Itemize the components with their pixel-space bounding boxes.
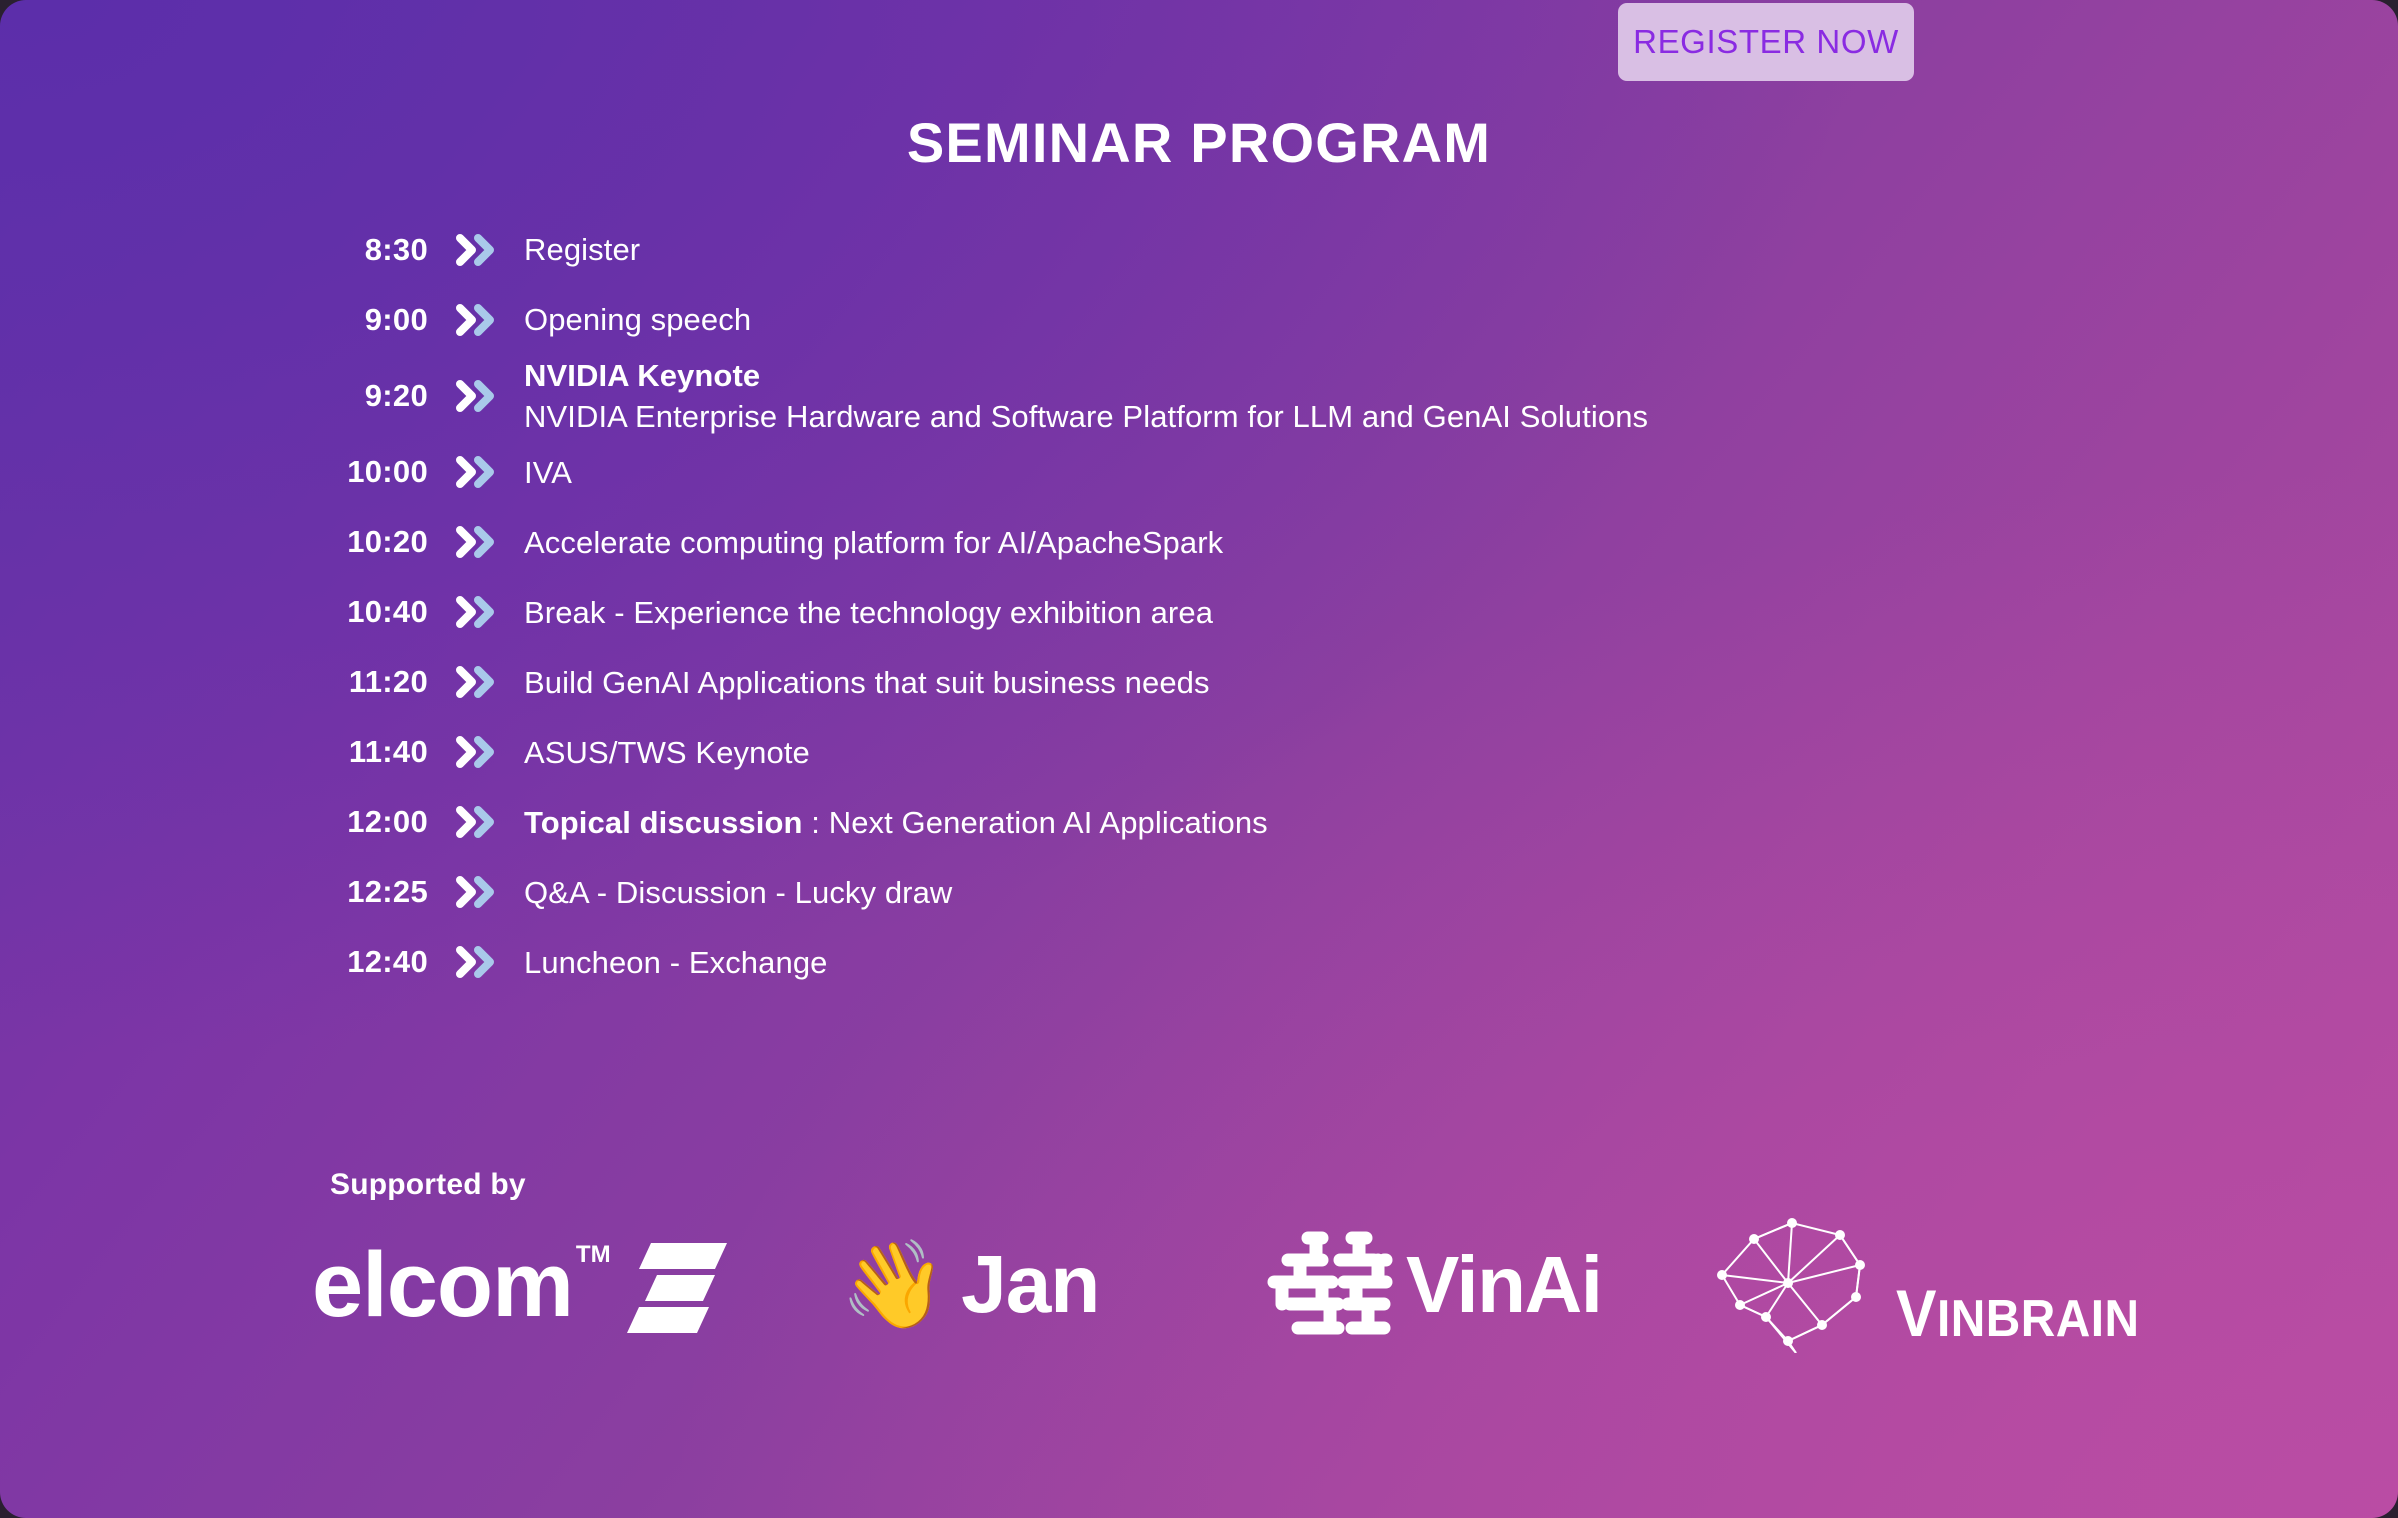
vinbrain-initial: V [1896,1276,1937,1350]
vinbrain-wordmark: VINBRAIN [1896,1275,2140,1351]
program-row-time: 9:00 [300,302,428,338]
sponsor-logo-vinai: VinAi [1260,1215,1602,1355]
program-row: 8:30Register [300,215,2000,285]
program-row-label: ASUS/TWS Keynote [524,735,810,770]
sponsor-logo-elcom: elcom TM [312,1215,727,1355]
supported-by-label: Supported by [330,1168,526,1202]
double-chevron-right-icon [428,872,524,912]
program-row-label: Q&A - Discussion - Lucky draw [524,875,952,910]
program-row-text: Q&A - Discussion - Lucky draw [524,872,952,913]
register-now-button[interactable]: REGISTER NOW [1618,3,1914,81]
register-now-label: REGISTER NOW [1633,23,1899,61]
double-chevron-right-icon [428,802,524,842]
sponsor-logo-vinbrain: VINBRAIN [1710,1215,2161,1355]
vinbrain-brain-network-icon [1710,1213,1910,1358]
sponsor-logo-strip: elcom TM 👋 Jan [300,1215,2160,1355]
program-row: 10:20Accelerate computing platform for A… [300,507,2000,577]
program-row-text: Break - Experience the technology exhibi… [524,592,1213,633]
program-row-label: : Next Generation AI Applications [803,805,1268,840]
double-chevron-right-icon [428,452,524,492]
program-row-time: 11:20 [300,664,428,700]
vinbrain-rest: INBRAIN [1937,1290,2140,1348]
vinai-wordmark: VinAi [1406,1239,1602,1331]
program-row-label: Accelerate computing platform for AI/Apa… [524,525,1223,560]
program-row: 12:40Luncheon - Exchange [300,927,2000,997]
double-chevron-right-icon [428,662,524,702]
program-row-label: Build GenAI Applications that suit busin… [524,665,1210,700]
program-row-text: Register [524,229,640,270]
program-row-label: Opening speech [524,302,751,337]
program-row-time: 8:30 [300,232,428,268]
page-title: SEMINAR PROGRAM [0,110,2398,175]
jan-wordmark: Jan [961,1238,1099,1332]
double-chevron-right-icon [428,300,524,340]
program-row: 10:40Break - Experience the technology e… [300,577,2000,647]
program-row: 10:00IVA [300,437,2000,507]
program-row: 11:20Build GenAI Applications that suit … [300,647,2000,717]
double-chevron-right-icon [428,732,524,772]
program-row-text: Opening speech [524,299,751,340]
elcom-e-mark-icon [623,1231,727,1340]
program-row-time: 10:20 [300,524,428,560]
program-row-label: Register [524,232,640,267]
double-chevron-right-icon [428,592,524,632]
sponsor-logo-jan: 👋 Jan [840,1215,1099,1355]
double-chevron-right-icon [428,942,524,982]
program-row-time: 12:25 [300,874,428,910]
seminar-program-slide: REGISTER NOW SEMINAR PROGRAM 8:30Registe… [0,0,2398,1518]
program-row-title: NVIDIA Keynote [524,355,1648,396]
program-row-text: Accelerate computing platform for AI/Apa… [524,522,1223,563]
double-chevron-right-icon [428,230,524,270]
program-row-text: IVA [524,452,572,493]
elcom-trademark-symbol: TM [576,1241,611,1269]
program-row-time: 10:40 [300,594,428,630]
program-row-text: Luncheon - Exchange [524,942,828,983]
double-chevron-right-icon [428,522,524,562]
program-row-label: Break - Experience the technology exhibi… [524,595,1213,630]
program-row-label: IVA [524,455,572,490]
program-row-text: Topical discussion : Next Generation AI … [524,802,1268,843]
program-row-text: NVIDIA KeynoteNVIDIA Enterprise Hardware… [524,355,1648,437]
program-row: 12:00Topical discussion : Next Generatio… [300,787,2000,857]
program-schedule-list: 8:30Register9:00Opening speech9:20NVIDIA… [300,215,2000,997]
program-row-text: ASUS/TWS Keynote [524,732,810,773]
program-row-lead: Topical discussion [524,805,803,840]
program-row: 12:25Q&A - Discussion - Lucky draw [300,857,2000,927]
program-row-time: 12:00 [300,804,428,840]
program-row: 9:20NVIDIA KeynoteNVIDIA Enterprise Hard… [300,355,2000,437]
program-row-text: Build GenAI Applications that suit busin… [524,662,1210,703]
program-row-subtitle: NVIDIA Enterprise Hardware and Software … [524,396,1648,437]
program-row-time: 10:00 [300,454,428,490]
program-row: 11:40ASUS/TWS Keynote [300,717,2000,787]
program-row: 9:00Opening speech [300,285,2000,355]
vinai-network-mark-icon [1260,1224,1394,1347]
program-row-label: Luncheon - Exchange [524,945,828,980]
program-row-time: 9:20 [300,378,428,414]
waving-hand-icon: 👋 [840,1242,947,1328]
program-row-time: 12:40 [300,944,428,980]
double-chevron-right-icon [428,376,524,416]
elcom-wordmark: elcom [312,1239,573,1331]
program-row-time: 11:40 [300,734,428,770]
